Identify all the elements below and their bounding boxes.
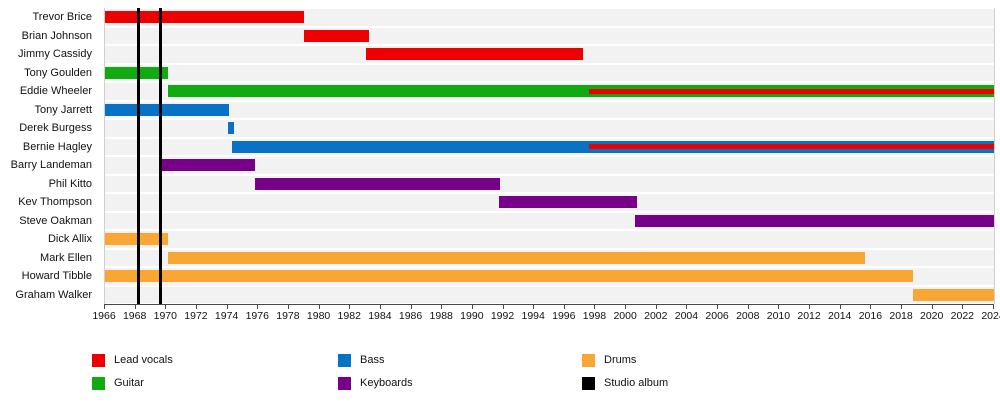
member-name-label: Brian Johnson <box>22 27 92 46</box>
timeline-bar-keyboards <box>255 178 500 190</box>
axis-tick <box>441 304 442 309</box>
legend-label: Guitar <box>114 377 144 389</box>
legend-label: Bass <box>360 354 384 366</box>
member-name-label: Eddie Wheeler <box>20 82 92 101</box>
axis-tick <box>656 304 657 309</box>
axis-tick-label: 1984 <box>368 310 391 322</box>
timeline-bar-lead_vocals <box>105 11 304 23</box>
member-name-label: Dick Allix <box>48 230 92 249</box>
axis-tick-label: 2008 <box>736 310 759 322</box>
timeline-bar-drums <box>168 252 865 264</box>
axis-tick-label: 1996 <box>552 310 575 322</box>
axis-tick-label: 1966 <box>92 310 115 322</box>
axis-tick-label: 2018 <box>889 310 912 322</box>
legend-item: Keyboards <box>338 375 413 391</box>
timeline-bar-bass <box>105 104 229 116</box>
member-name-label: Barry Landeman <box>11 156 92 175</box>
timeline-bar-drums <box>913 289 994 301</box>
legend-swatch-icon <box>338 377 351 390</box>
member-name-label: Tony Goulden <box>24 64 92 83</box>
axis-tick <box>870 304 871 309</box>
timeline-row <box>105 175 994 194</box>
axis-tick-label: 1990 <box>460 310 483 322</box>
timeline-row <box>105 230 994 249</box>
timeline-chart: Trevor BriceBrian JohnsonJimmy CassidyTo… <box>0 0 1000 420</box>
axis-tick <box>564 304 565 309</box>
axis-tick <box>288 304 289 309</box>
timeline-bar-keyboards <box>635 215 994 227</box>
member-name-label: Howard Tibble <box>22 267 92 286</box>
axis-tick-label: 1994 <box>521 310 544 322</box>
axis-tick-label: 2002 <box>644 310 667 322</box>
axis-tick-label: 2014 <box>828 310 851 322</box>
member-name-column: Trevor BriceBrian JohnsonJimmy CassidyTo… <box>0 8 96 304</box>
member-name-label: Trevor Brice <box>33 8 93 27</box>
axis-tick-label: 1980 <box>307 310 330 322</box>
axis-tick <box>380 304 381 309</box>
axis-tick <box>257 304 258 309</box>
timeline-bar-lead_vocals <box>366 48 584 60</box>
axis-tick <box>932 304 933 309</box>
timeline-plot-area <box>104 8 995 304</box>
member-name-label: Phil Kitto <box>49 175 92 194</box>
legend-item: Studio album <box>582 375 668 391</box>
timeline-bar-bass <box>228 122 234 134</box>
timeline-row <box>105 101 994 120</box>
legend-label: Studio album <box>604 377 668 389</box>
member-name-label: Steve Oakman <box>19 212 92 231</box>
member-name-label: Graham Walker <box>15 286 92 305</box>
axis-tick-label: 2006 <box>705 310 728 322</box>
member-name-label: Bernie Hagley <box>23 138 92 157</box>
axis-tick <box>594 304 595 309</box>
legend-swatch-icon <box>582 377 595 390</box>
axis-tick-label: 1998 <box>583 310 606 322</box>
axis-tick <box>135 304 136 309</box>
legend-swatch-icon <box>92 377 105 390</box>
timeline-row <box>105 119 994 138</box>
legend-label: Lead vocals <box>114 354 173 366</box>
axis-tick-label: 2024 <box>981 310 1000 322</box>
timeline-bar-lead_vocals <box>589 89 994 94</box>
axis-tick-label: 2012 <box>797 310 820 322</box>
axis-tick-label: 1972 <box>184 310 207 322</box>
axis-tick <box>227 304 228 309</box>
legend-swatch-icon <box>582 354 595 367</box>
timeline-row <box>105 286 994 305</box>
axis-tick-label: 2000 <box>613 310 636 322</box>
legend-label: Keyboards <box>360 377 413 389</box>
x-axis: 1966196819701972197419761978198019821984… <box>104 304 993 334</box>
timeline-bar-lead_vocals <box>304 30 368 42</box>
studio-album-marker <box>137 8 140 304</box>
axis-tick <box>503 304 504 309</box>
axis-tick-label: 2022 <box>951 310 974 322</box>
chart-legend: Lead vocalsGuitarBassKeyboardsDrumsStudi… <box>0 344 1000 414</box>
axis-tick-label: 2020 <box>920 310 943 322</box>
axis-tick <box>196 304 197 309</box>
axis-tick <box>962 304 963 309</box>
timeline-bar-drums <box>105 270 913 282</box>
axis-tick <box>778 304 779 309</box>
timeline-row <box>105 64 994 83</box>
legend-swatch-icon <box>92 354 105 367</box>
timeline-bar-lead_vocals <box>589 144 994 149</box>
axis-tick-label: 2016 <box>859 310 882 322</box>
member-name-label: Tony Jarrett <box>35 101 92 120</box>
axis-tick <box>533 304 534 309</box>
axis-tick-label: 1978 <box>276 310 299 322</box>
axis-tick <box>319 304 320 309</box>
axis-tick-label: 1988 <box>430 310 453 322</box>
axis-tick <box>717 304 718 309</box>
timeline-bar-keyboards <box>499 196 637 208</box>
member-name-label: Kev Thompson <box>18 193 92 212</box>
studio-album-marker <box>159 8 162 304</box>
axis-tick <box>165 304 166 309</box>
legend-item: Bass <box>338 352 384 368</box>
axis-tick-label: 1982 <box>338 310 361 322</box>
axis-tick-label: 2004 <box>675 310 698 322</box>
axis-line <box>104 304 993 305</box>
axis-tick <box>472 304 473 309</box>
timeline-row <box>105 27 994 46</box>
axis-tick-label: 2010 <box>767 310 790 322</box>
axis-tick <box>625 304 626 309</box>
legend-item: Lead vocals <box>92 352 173 368</box>
axis-tick <box>840 304 841 309</box>
axis-tick <box>686 304 687 309</box>
member-name-label: Mark Ellen <box>40 249 92 268</box>
legend-label: Drums <box>604 354 636 366</box>
timeline-bar-keyboards <box>162 159 255 171</box>
axis-tick <box>901 304 902 309</box>
legend-item: Guitar <box>92 375 144 391</box>
axis-tick-label: 1986 <box>399 310 422 322</box>
member-name-label: Derek Burgess <box>19 119 92 138</box>
axis-tick-label: 1968 <box>123 310 146 322</box>
axis-tick-label: 1992 <box>491 310 514 322</box>
legend-item: Drums <box>582 352 636 368</box>
axis-tick-label: 1970 <box>154 310 177 322</box>
axis-tick <box>104 304 105 309</box>
axis-tick <box>993 304 994 309</box>
axis-tick-label: 1976 <box>246 310 269 322</box>
axis-tick-label: 1974 <box>215 310 238 322</box>
axis-tick <box>748 304 749 309</box>
axis-tick <box>349 304 350 309</box>
axis-tick <box>411 304 412 309</box>
axis-tick <box>809 304 810 309</box>
member-name-label: Jimmy Cassidy <box>18 45 92 64</box>
legend-swatch-icon <box>338 354 351 367</box>
